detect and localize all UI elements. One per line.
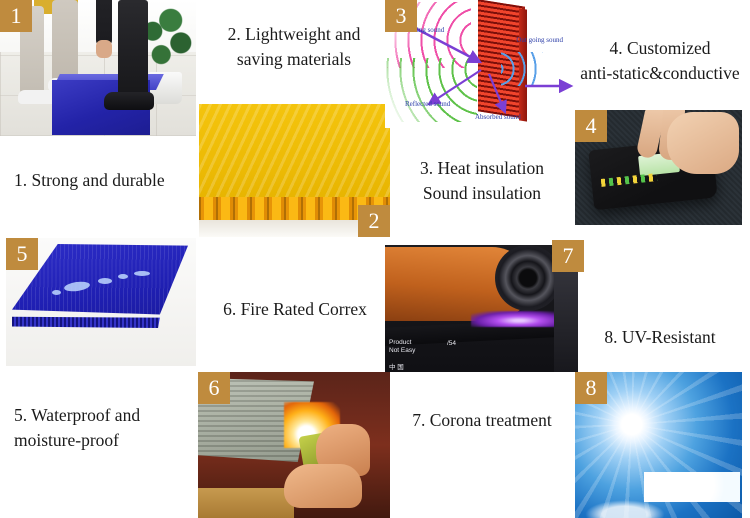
- feature-2-badge: 2: [358, 205, 390, 237]
- hand-palm: [667, 112, 739, 174]
- corona-discharge: [471, 311, 567, 327]
- overlay-text-line2: Not Easy: [389, 347, 415, 354]
- feature-collage: 1 1. Strong and durable 2. Lightweight a…: [0, 0, 750, 518]
- corona-treatment-photo: Product Not Easy 中 国 /54: [385, 245, 578, 372]
- sheet-flute-edge: [12, 316, 188, 328]
- hand: [284, 464, 362, 508]
- water-droplet: [52, 290, 61, 295]
- cloud-icon: [585, 500, 665, 518]
- wooden-table: [198, 488, 294, 518]
- person-dark-leg: [118, 0, 148, 100]
- feature-2-caption: 2. Lightweight and saving materials: [200, 22, 388, 73]
- feature-4-badge: 4: [575, 110, 607, 142]
- feature-3-caption: 3. Heat insulation Sound insulation: [386, 156, 578, 207]
- feature-1-badge: 1: [0, 0, 32, 32]
- feature-8-caption: 8. UV-Resistant: [572, 325, 748, 350]
- water-droplet: [134, 271, 150, 276]
- feature-1-caption: 1. Strong and durable: [14, 168, 194, 193]
- feature-6-caption: 6. Fire Rated Correx: [200, 297, 390, 322]
- yellow-sheet-face: [199, 104, 390, 202]
- overlay-text-line1: Product: [389, 339, 411, 346]
- feature-4-caption: 4. Customized anti-static&conductive: [572, 36, 748, 87]
- feature-7-image: Product Not Easy 中 国 /54: [385, 245, 578, 372]
- feature-6-badge: 6: [198, 372, 230, 404]
- water-droplet: [118, 274, 128, 279]
- black-shoe: [104, 92, 154, 110]
- person-hand: [96, 40, 112, 58]
- feature-7-caption: 7. Corona treatment: [386, 408, 578, 433]
- label-reflected-sound: Reflected sound: [405, 100, 450, 108]
- feature-3-badge: 3: [385, 0, 417, 32]
- blue-corrugated-sheet: [12, 244, 188, 326]
- feature-8-badge: 8: [575, 372, 607, 404]
- overlay-text-line4: /54: [447, 340, 456, 347]
- feature-5-badge: 5: [6, 238, 38, 270]
- cloud-icon: [644, 472, 740, 502]
- feature-7-badge: 7: [552, 240, 584, 272]
- label-outgoing-sound: Out going sound: [516, 36, 563, 44]
- label-absorbed-sound: Absorbed sound: [475, 113, 521, 121]
- feature-5-caption: 5. Waterproof and moisture-proof: [14, 403, 194, 454]
- overlay-text-line3: 中 国: [389, 361, 404, 371]
- water-droplet: [98, 278, 112, 284]
